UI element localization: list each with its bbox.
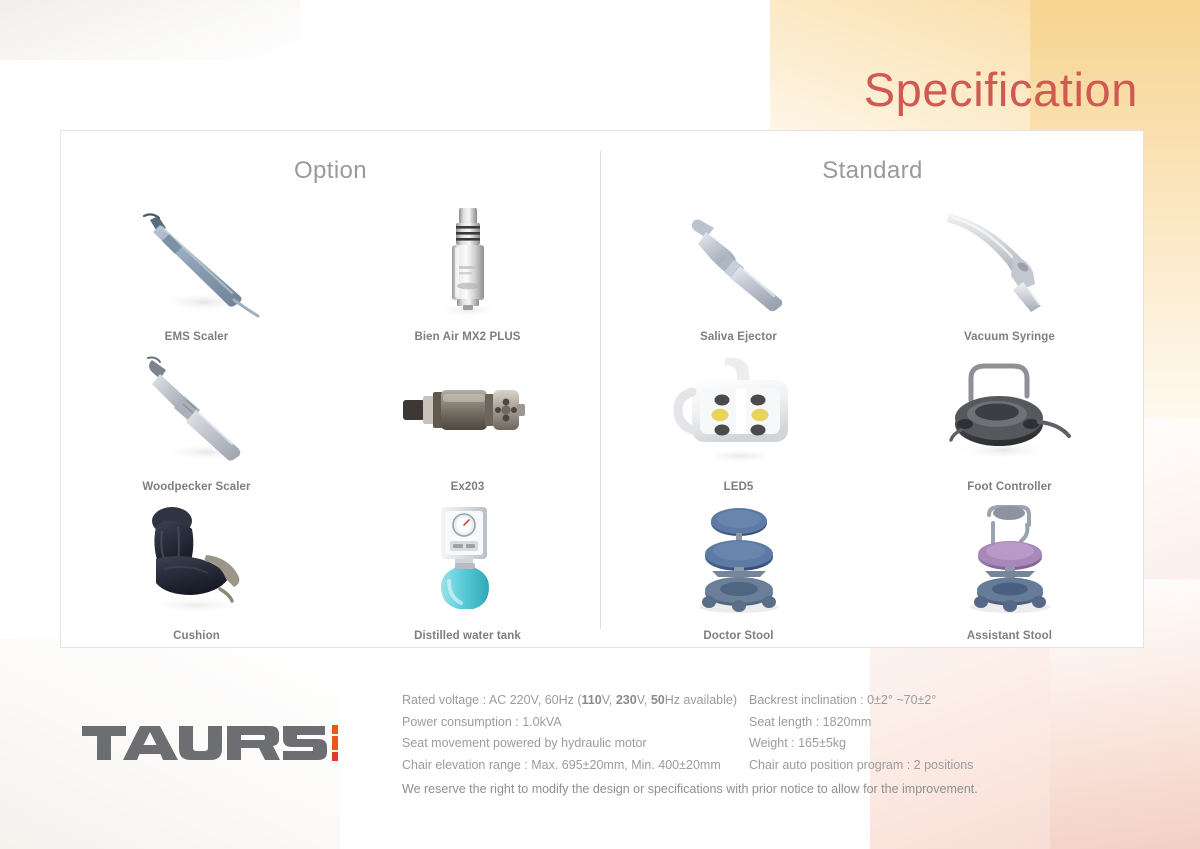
spec-line: Weight : 165±5kg <box>749 733 1022 755</box>
vacuum-syringe-icon <box>935 202 1085 320</box>
product-label: Assistant Stool <box>967 629 1052 643</box>
product-cell[interactable]: Foot Controller <box>874 350 1145 499</box>
spec-line: Seat movement powered by hydraulic motor <box>402 733 749 755</box>
product-label: Foot Controller <box>967 480 1052 494</box>
spec-column-right: Backrest inclination : 0±2° ~70±2° Seat … <box>749 690 1022 776</box>
spec-columns: Rated voltage : AC 220V, 60Hz (110V, 230… <box>402 690 1022 776</box>
disclaimer-text: We reserve the right to modify the desig… <box>402 782 978 796</box>
cushion-icon <box>122 501 272 619</box>
woodpecker-scaler-icon <box>122 352 272 470</box>
product-label: Saliva Ejector <box>700 330 777 344</box>
product-label: Vacuum Syringe <box>964 330 1055 344</box>
spec-line: Chair elevation range : Max. 695±20mm, M… <box>402 755 749 777</box>
taurus-logo <box>80 722 350 768</box>
product-cell[interactable]: Bien Air MX2 PLUS <box>332 201 603 350</box>
product-cell[interactable]: Distilled water tank <box>332 500 603 649</box>
product-cell[interactable]: EMS Scaler <box>61 201 332 350</box>
spec-text: Hz available) <box>665 693 737 707</box>
spec-text: V, <box>602 693 616 707</box>
product-cell[interactable]: LED5 <box>603 350 874 499</box>
spec-text: Rated voltage : AC 220V, 60Hz ( <box>402 693 582 707</box>
product-label: Woodpecker Scaler <box>142 480 250 494</box>
spec-line: Chair auto position program : 2 position… <box>749 755 1022 777</box>
spec-line: Seat length : 1820mm <box>749 712 1022 734</box>
product-cell[interactable]: Saliva Ejector <box>603 201 874 350</box>
product-label: Bien Air MX2 PLUS <box>414 330 520 344</box>
spec-line: Backrest inclination : 0±2° ~70±2° <box>749 690 1022 712</box>
water-tank-icon <box>393 501 543 619</box>
product-label: EMS Scaler <box>165 330 229 344</box>
spec-emphasis: 50 <box>651 693 665 707</box>
spec-text: V, <box>637 693 651 707</box>
specification-panel: Option Standard <box>60 130 1144 648</box>
product-cell[interactable]: Cushion <box>61 500 332 649</box>
page-title: Specification <box>864 62 1138 117</box>
foot-controller-icon <box>935 352 1085 470</box>
bien-air-motor-icon <box>393 202 543 320</box>
spec-line: Power consumption : 1.0kVA <box>402 712 749 734</box>
product-label: Doctor Stool <box>703 629 773 643</box>
product-label: LED5 <box>724 480 754 494</box>
ems-scaler-icon <box>122 202 272 320</box>
column-header-standard: Standard <box>600 157 1145 185</box>
doctor-stool-icon <box>664 501 814 619</box>
product-cell[interactable]: Woodpecker Scaler <box>61 350 332 499</box>
product-label: Ex203 <box>451 480 485 494</box>
product-label: Cushion <box>173 629 220 643</box>
column-header-option: Option <box>61 157 600 185</box>
product-cell[interactable]: Ex203 <box>332 350 603 499</box>
assistant-stool-icon <box>935 501 1085 619</box>
product-cell[interactable]: Assistant Stool <box>874 500 1145 649</box>
spec-line: Rated voltage : AC 220V, 60Hz (110V, 230… <box>402 690 749 712</box>
saliva-ejector-icon <box>664 202 814 320</box>
led5-light-icon <box>664 352 814 470</box>
product-cell[interactable]: Vacuum Syringe <box>874 201 1145 350</box>
spec-column-left: Rated voltage : AC 220V, 60Hz (110V, 230… <box>402 690 749 776</box>
spec-emphasis: 110 <box>582 693 602 707</box>
spec-emphasis: 230 <box>616 693 637 707</box>
specification-page: Specification Option Standard <box>0 0 1200 849</box>
ex203-motor-icon <box>393 352 543 470</box>
product-label: Distilled water tank <box>414 629 521 643</box>
product-cell[interactable]: Doctor Stool <box>603 500 874 649</box>
product-grid: EMS Scaler <box>61 201 1145 649</box>
